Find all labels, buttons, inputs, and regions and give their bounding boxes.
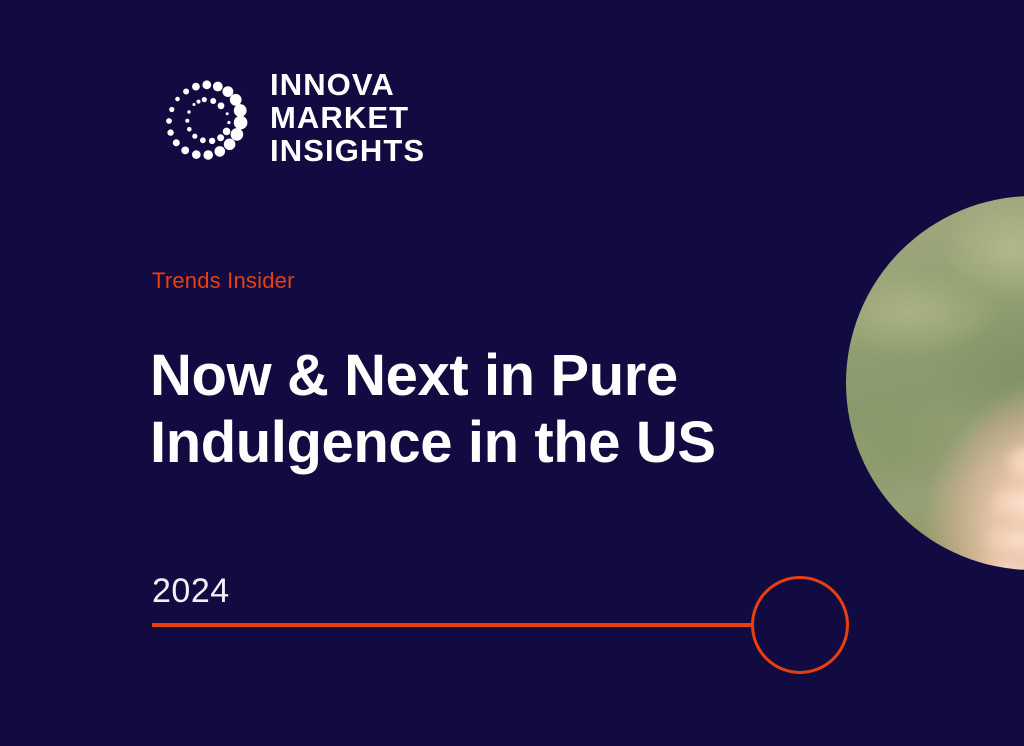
brand-logo[interactable]: INNOVA MARKET INSIGHTS: [152, 62, 422, 174]
hero-photo-circle: [846, 196, 1024, 570]
hero-photo-image: [846, 196, 1024, 570]
accent-ring-circle: [751, 576, 849, 674]
logo-word-line-1: INNOVA: [270, 68, 425, 101]
cover-slide: INNOVA MARKET INSIGHTS Trends Insider No…: [0, 0, 1024, 746]
logo-wordmark: INNOVA MARKET INSIGHTS: [270, 68, 425, 167]
title-line-1: Now & Next in Pure: [150, 342, 770, 409]
spiral-dots-icon: [152, 62, 264, 174]
year-label: 2024: [152, 572, 230, 611]
title-line-2: Indulgence in the US: [150, 409, 770, 476]
page-title: Now & Next in Pure Indulgence in the US: [150, 342, 770, 476]
logo-word-line-2: MARKET: [270, 101, 425, 134]
eyebrow-label: Trends Insider: [152, 268, 295, 294]
accent-rule: [152, 623, 772, 627]
logo-word-line-3: INSIGHTS: [270, 134, 425, 167]
